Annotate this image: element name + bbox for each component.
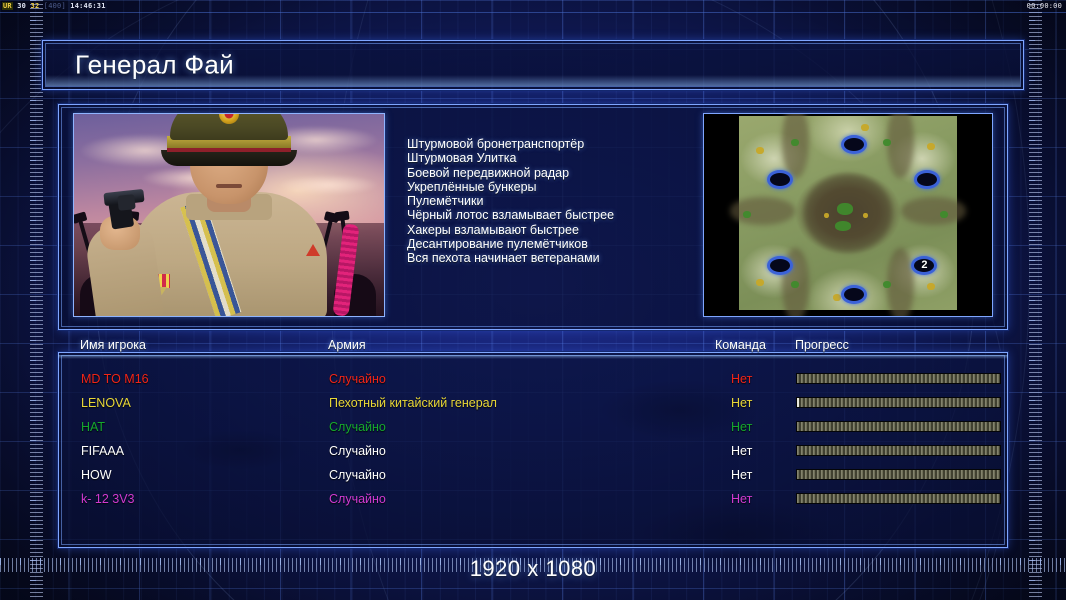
player-army: Пехотный китайский генерал	[329, 391, 497, 415]
player-name: LENOVA	[81, 391, 131, 415]
map-resource	[756, 147, 764, 154]
map-resource	[837, 203, 853, 215]
start-position-label: 2	[914, 259, 934, 272]
ability-item: Укреплённые бункеры	[407, 180, 709, 194]
map-resource	[835, 221, 851, 231]
progress-bar-fill	[797, 470, 1000, 479]
map-resource	[833, 294, 841, 301]
player-name: MD TO M16	[81, 367, 149, 391]
ability-item: Боевой передвижной радар	[407, 166, 709, 180]
map-start-position	[841, 135, 867, 154]
roster-panel: MD TO M16СлучайноНетLENOVAПехотный китай…	[58, 352, 1008, 548]
ability-item: Десантирование пулемётчиков	[407, 237, 709, 251]
pistol-cylinder	[117, 194, 135, 211]
lapel-pin-icon	[306, 244, 320, 256]
map-start-position	[914, 170, 940, 189]
hud-value-1: 30	[17, 2, 26, 10]
table-row[interactable]: LENOVAПехотный китайский генералНет	[59, 391, 1007, 415]
map-start-position	[767, 256, 793, 275]
map-resource	[861, 124, 869, 131]
player-army: Случайно	[329, 439, 386, 463]
map-lane	[730, 197, 796, 224]
map-lane	[887, 248, 913, 317]
player-army: Случайно	[329, 463, 386, 487]
table-row[interactable]: HATСлучайноНет	[59, 415, 1007, 439]
ability-item: Штурмовая Улитка	[407, 151, 709, 165]
player-team: Нет	[731, 463, 752, 487]
player-team: Нет	[731, 367, 752, 391]
map-art: 2	[704, 114, 992, 316]
table-row[interactable]: k- 12 3V3СлучайноНет	[59, 487, 1007, 511]
progress-bar-marker	[797, 398, 799, 407]
map-resource	[791, 281, 799, 288]
progress-bar-fill	[797, 422, 1000, 431]
top-divider	[0, 12, 1066, 13]
ability-item: Чёрный лотос взламывает быстрее	[407, 208, 709, 222]
player-team: Нет	[731, 439, 752, 463]
player-name: FIFAAA	[81, 439, 124, 463]
start-position-label	[844, 138, 864, 151]
progress-bar-fill	[797, 446, 1000, 455]
map-lane	[887, 113, 913, 178]
column-header-team: Команда	[715, 338, 766, 352]
progress-bar-fill	[797, 398, 1000, 407]
ability-item: Вся пехота начинает ветеранами	[407, 251, 709, 265]
player-army: Случайно	[329, 367, 386, 391]
hud-label: UR	[2, 2, 13, 10]
general-portrait	[73, 113, 385, 317]
column-header-name: Имя игрока	[80, 338, 146, 352]
map-resource	[743, 211, 751, 218]
ability-item: Хакеры взламывают быстрее	[407, 223, 709, 237]
table-row[interactable]: HOWСлучайноНет	[59, 463, 1007, 487]
map-resource	[883, 281, 891, 288]
start-position-label	[770, 173, 790, 186]
start-position-label	[917, 173, 937, 186]
hud-left-cluster: UR 30 32 [400] 14:46:31	[2, 0, 106, 12]
map-resource	[824, 213, 829, 218]
map-resource	[927, 283, 935, 290]
map-resource	[927, 143, 935, 150]
title-sheen	[46, 75, 1020, 86]
general-info-panel: Штурмовой бронетранспортёр Штурмовая Ули…	[58, 104, 1008, 330]
progress-bar	[796, 445, 1001, 456]
progress-bar	[796, 373, 1001, 384]
general-mouth	[216, 184, 242, 188]
map-start-position: 2	[911, 256, 937, 275]
map-lane	[901, 197, 967, 224]
resolution-label: 1920 x 1080	[0, 556, 1066, 582]
player-army: Случайно	[329, 415, 386, 439]
map-resource	[940, 211, 948, 218]
player-name: k- 12 3V3	[81, 487, 135, 511]
map-resource	[756, 279, 764, 286]
table-row[interactable]: FIFAAAСлучайноНет	[59, 439, 1007, 463]
hud-clock: 14:46:31	[70, 2, 105, 10]
progress-bar	[796, 493, 1001, 504]
header-underline	[58, 355, 1008, 359]
hud-value-2: 32	[31, 2, 40, 10]
roster-header: Имя игрока Армия Команда Прогресс	[58, 338, 1008, 356]
start-position-label	[844, 288, 864, 301]
progress-bar	[796, 421, 1001, 432]
progress-bar	[796, 397, 1001, 408]
player-name: HOW	[81, 463, 112, 487]
cap-brim	[161, 150, 297, 166]
map-start-position	[767, 170, 793, 189]
column-header-progress: Прогресс	[795, 338, 849, 352]
table-row[interactable]: MD TO M16СлучайноНет	[59, 367, 1007, 391]
player-team: Нет	[731, 391, 752, 415]
title-panel: Генерал Фай	[42, 40, 1024, 90]
ability-item: Пулемётчики	[407, 194, 709, 208]
general-abilities-list: Штурмовой бронетранспортёр Штурмовая Ули…	[407, 137, 709, 266]
player-team: Нет	[731, 487, 752, 511]
hud-timer: 00:00:00	[1027, 0, 1062, 12]
progress-bar-fill	[797, 494, 1000, 503]
player-team: Нет	[731, 415, 752, 439]
map-terrain: 2	[739, 116, 958, 310]
player-army: Случайно	[329, 487, 386, 511]
progress-bar-fill	[797, 374, 1000, 383]
portrait-art	[74, 114, 384, 316]
map-preview[interactable]: 2	[703, 113, 993, 317]
player-name: HAT	[81, 415, 105, 439]
progress-bar	[796, 469, 1001, 480]
column-header-army: Армия	[328, 338, 366, 352]
cloud	[279, 175, 378, 195]
hud-status-bar: UR 30 32 [400] 14:46:31 00:00:00	[0, 0, 1066, 12]
ability-item: Штурмовой бронетранспортёр	[407, 137, 709, 151]
hud-bracket: [400]	[44, 2, 66, 10]
start-position-label	[770, 259, 790, 272]
map-start-position	[841, 285, 867, 304]
